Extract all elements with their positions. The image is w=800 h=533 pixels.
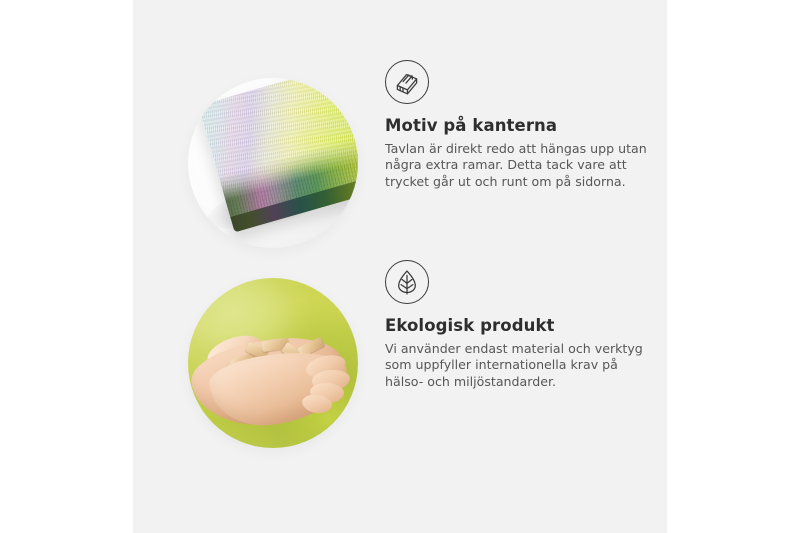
canvas-print-corner-photo <box>188 78 358 248</box>
leaf-glyph <box>393 268 421 296</box>
feature-block-motiv: Motiv på kanterna Tavlan är direkt redo … <box>133 60 667 260</box>
hands-holding-wood-chips-photo <box>188 278 358 448</box>
canvas-wrapped-edges-icon <box>385 60 429 104</box>
feature-description: Vi använder endast material och verktyg … <box>385 341 647 390</box>
feature-title: Ekologisk produkt <box>385 316 667 335</box>
canvas-wrapped-edges-glyph <box>393 68 421 96</box>
canvas-print-photo-circle <box>188 78 358 248</box>
feature-block-ekologisk: Ekologisk produkt Vi använder endast mat… <box>133 260 667 460</box>
product-feature-banner: Motiv på kanterna Tavlan är direkt redo … <box>0 0 800 533</box>
feature-title: Motiv på kanterna <box>385 116 667 135</box>
feature-description: Tavlan är direkt redo att hängas upp uta… <box>385 141 647 190</box>
feature-text-motiv: Motiv på kanterna Tavlan är direkt redo … <box>385 60 667 190</box>
eco-photo-circle <box>188 278 358 448</box>
content-panel: Motiv på kanterna Tavlan är direkt redo … <box>133 0 667 533</box>
leaf-icon <box>385 260 429 304</box>
feature-text-ekologisk: Ekologisk produkt Vi använder endast mat… <box>385 260 667 390</box>
